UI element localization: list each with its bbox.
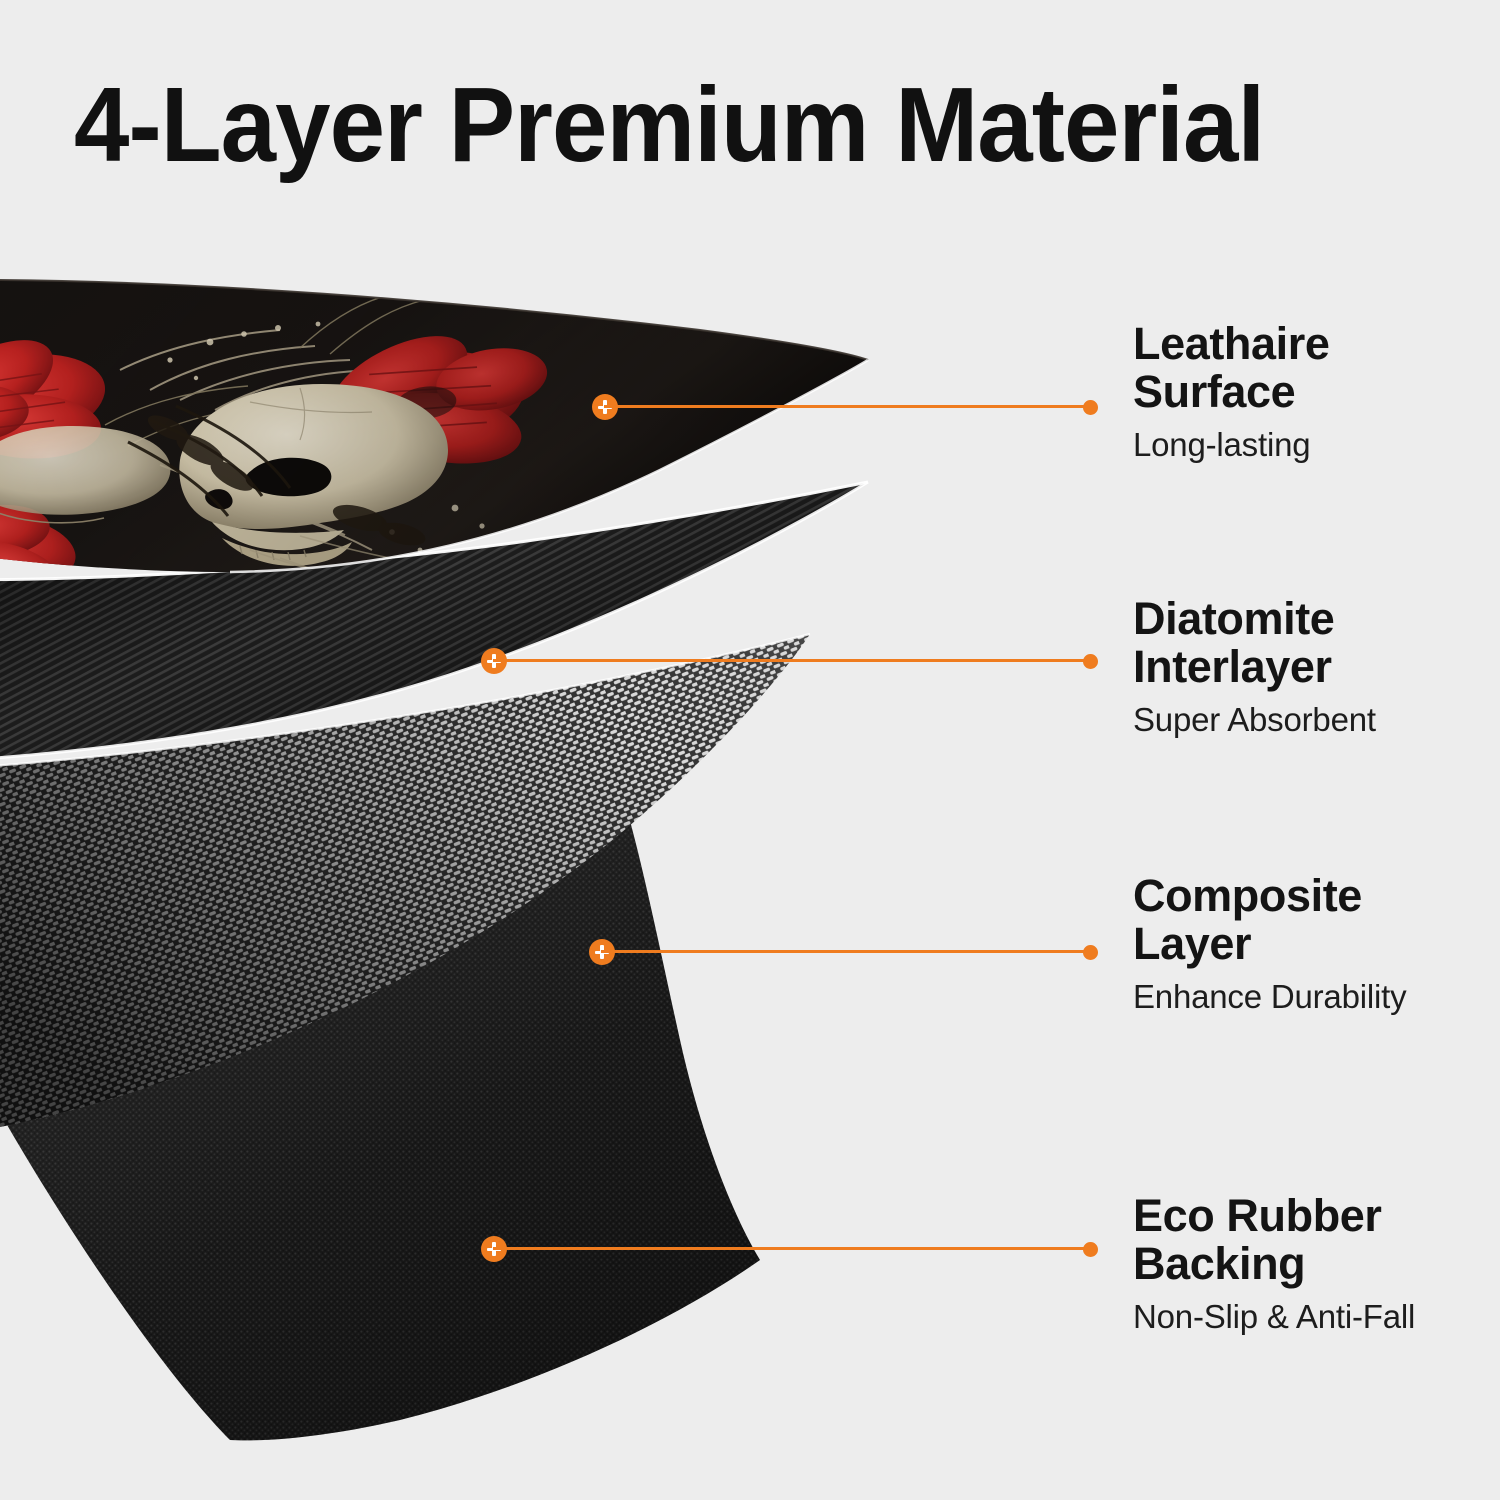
callout-title: Eco Rubber Backing [1133,1192,1415,1287]
callout-title: Composite Layer [1133,872,1406,967]
connector-line [601,950,1088,953]
dot-icon [1083,945,1098,960]
callout-composite-layer: Composite Layer Enhance Durability [1133,872,1406,1016]
connector-diatomite [481,648,1098,674]
callout-subtitle: Non-Slip & Anti-Fall [1133,1298,1415,1336]
callout-title: Diatomite Interlayer [1133,595,1376,690]
callout-diatomite-interlayer: Diatomite Interlayer Super Absorbent [1133,595,1376,739]
callout-leathaire-surface: Leathaire Surface Long-lasting [1133,320,1329,464]
dot-icon [1083,654,1098,669]
dot-icon [1083,400,1098,415]
connector-line [604,405,1088,408]
page-title: 4-Layer Premium Material [74,72,1264,178]
callout-subtitle: Long-lasting [1133,426,1329,464]
callout-eco-rubber-backing: Eco Rubber Backing Non-Slip & Anti-Fall [1133,1192,1415,1336]
dot-icon [1083,1242,1098,1257]
callout-title: Leathaire Surface [1133,320,1329,415]
connector-rubber [481,1236,1098,1262]
layer-stack-illustration [0,250,1100,1480]
infographic-canvas: 4-Layer Premium Material [0,0,1500,1500]
connector-line [493,1247,1088,1250]
connector-composite [589,939,1098,965]
connector-line [493,659,1088,662]
connector-leathaire [592,394,1098,420]
callout-subtitle: Super Absorbent [1133,701,1376,739]
callout-subtitle: Enhance Durability [1133,978,1406,1016]
